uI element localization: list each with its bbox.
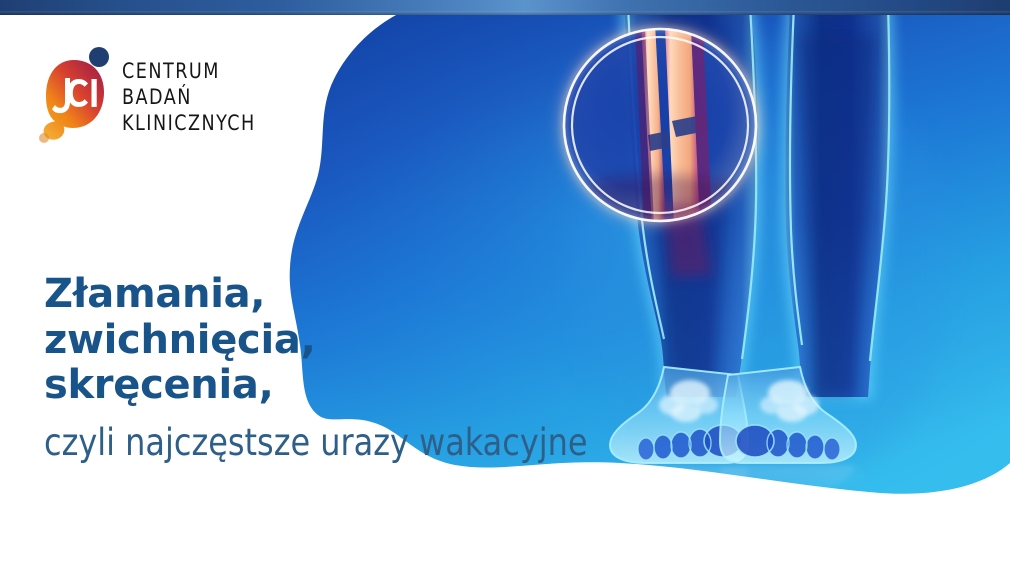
headline-line-3: skręcenia, bbox=[44, 363, 464, 409]
logo-line-1: CENTRUM bbox=[122, 58, 256, 84]
headline-block: Złamania, zwichnięcia, skręcenia, czyli … bbox=[44, 272, 464, 463]
logo-wordmark: CENTRUM BADAŃ KLINICZNYCH bbox=[122, 48, 266, 136]
logo-mark bbox=[38, 48, 110, 144]
headline-subtitle: czyli najczęstsze urazy wakacyjne bbox=[44, 423, 447, 464]
headline-line-2: zwichnięcia, bbox=[44, 318, 464, 364]
headline-line-1: Złamania, bbox=[44, 272, 464, 318]
logo-line-2: BADAŃ bbox=[122, 84, 256, 110]
banner-root: CENTRUM BADAŃ KLINICZNYCH Złamania, zwic… bbox=[0, 0, 1010, 561]
floor-reflection bbox=[598, 461, 868, 501]
navy-dot-icon bbox=[88, 46, 110, 68]
logo-line-3: KLINICZNYCH bbox=[122, 110, 256, 136]
top-stripe bbox=[0, 0, 1010, 15]
orange-dot-icon bbox=[38, 132, 50, 144]
logo[interactable]: CENTRUM BADAŃ KLINICZNYCH bbox=[38, 48, 288, 148]
